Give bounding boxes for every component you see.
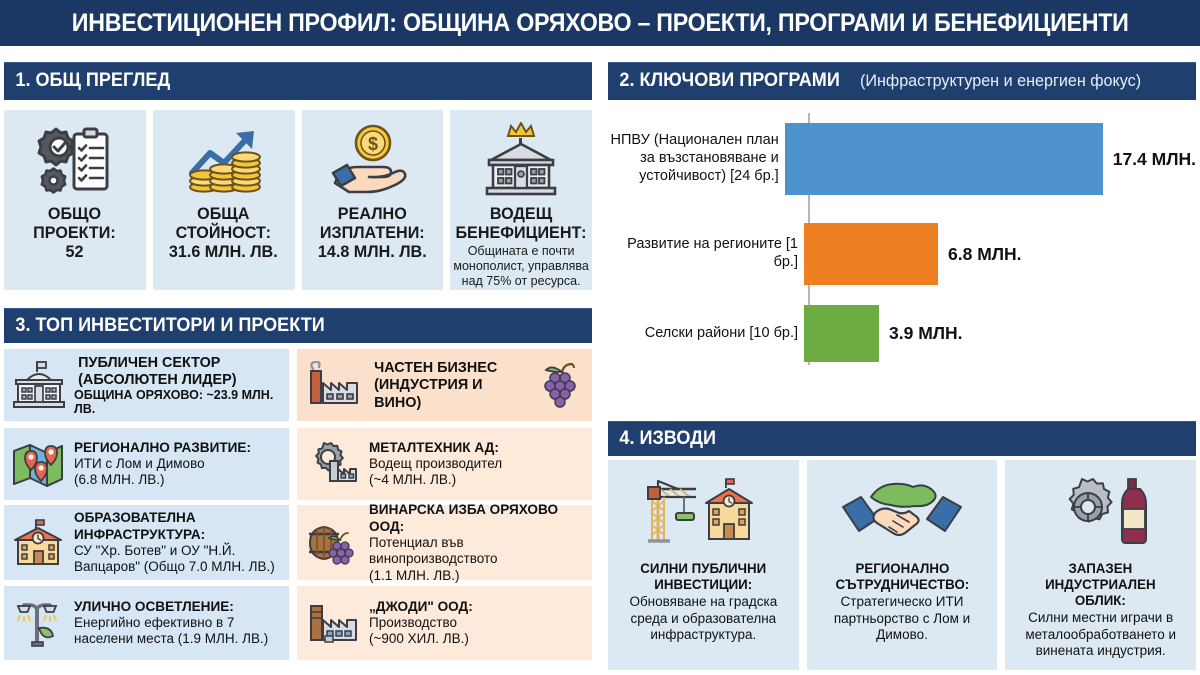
conclusion-cards: СИЛНИ ПУБЛИЧНИИНВЕСТИЦИИ: Обновяване на … [608,460,1196,670]
section-4-title: 4. ИЗВОДИ [608,428,716,450]
conclusion-card-regional-cooperation: РЕГИОНАЛНОСЪТРУДНИЧЕСТВО: Стратегическо … [807,460,998,670]
bar-rural [804,305,879,362]
conclusion-body-1: Обновяване на градска среда и образовате… [614,594,793,643]
hand-coin-icon: $ [329,120,415,198]
bar-npvu [785,123,1103,195]
key-programs-bar-chart: НПВУ (Национален планза възстановяване и… [608,105,1196,380]
factory-icon [304,598,360,648]
section-2-subtitle: (Инфраструктурен и енергиен фокус) [860,71,1141,91]
bar-regions [804,223,938,285]
section-4-header: 4. ИЗВОДИ [608,421,1196,456]
kpi-card-beneficiary: ВОДЕЩБЕНЕФИЦИЕНТ: Общината е почти моноп… [450,110,592,290]
kpi-label-beneficiary: ВОДЕЩБЕНЕФИЦИЕНТ: [456,204,587,242]
conclusion-body-2: Стратегическо ИТИ партньорство с Лом и Д… [813,594,992,643]
clipboard-gear-icon [37,120,113,198]
kpi-card-total-projects: ОБЩОПРОЕКТИ:52 [4,110,146,290]
public-row-regional-development: РЕГИОНАЛНО РАЗВИТИЕ: ИТИ с Лом и Димово(… [4,428,289,500]
kpi-note-beneficiary: Общината е почти монополист, управлява н… [450,244,592,288]
private-row-jodi: „ДЖОДИ" ООД: Производство(~900 ХИЛ. ЛВ.) [297,586,592,660]
barrel-grapes-icon [304,518,360,568]
bar-value-rural: 3.9 МЛН. [889,323,963,344]
conclusion-card-public-investment: СИЛНИ ПУБЛИЧНИИНВЕСТИЦИИ: Обновяване на … [608,460,799,670]
svg-text:$: $ [368,134,378,154]
kpi-label-paid: РЕАЛНОИЗПЛАТЕНИ:14.8 МЛН. ЛВ. [318,204,427,261]
school-icon [11,518,65,568]
private-business-title: ЧАСТЕН БИЗНЕС (ИНДУСТРИЯ И ВИНО) [374,359,523,410]
public-row-street-lighting: УЛИЧНО ОСВЕТЛЕНИЕ: Енергийно ефективно в… [4,586,289,660]
section-3-title: 3. ТОП ИНВЕСТИТОРИ И ПРОЕКТИ [4,315,325,337]
conclusion-title-3: ЗАПАЗЕН ИНДУСТРИАЛЕНОБЛИК: [1016,560,1186,608]
conclusion-title-2: РЕГИОНАЛНОСЪТРУДНИЧЕСТВО: [835,560,969,592]
gear-bottle-icon [1036,472,1166,552]
conclusion-title-1: СИЛНИ ПУБЛИЧНИИНВЕСТИЦИИ: [640,560,766,592]
bar-row-rural: Селски райони [10 бр.] 3.9 МЛН. [608,305,1196,362]
kpi-label-total-projects: ОБЩОПРОЕКТИ:52 [34,204,117,261]
section-2-title: 2. КЛЮЧОВИ ПРОГРАМИ [608,70,840,92]
public-row-2-text: ОБРАЗОВАТЕЛНАИНФРАСТРУКТУРА: СУ "Хр. Бот… [74,509,275,576]
public-sector-title: ПУБЛИЧЕН СЕКТОР (АБСОЛЮТЕН ЛИДЕР) [78,354,277,388]
private-row-3-text: „ДЖОДИ" ООД: Производство(~900 ХИЛ. ЛВ.) [369,598,476,648]
infographic-page: ИНВЕСТИЦИОНЕН ПРОФИЛ: ОБЩИНА ОРЯХОВО – П… [0,0,1200,675]
government-crown-icon [477,120,565,198]
coins-growth-icon [184,120,264,198]
section-2-header: 2. КЛЮЧОВИ ПРОГРАМИ (Инфраструктурен и е… [608,62,1196,100]
bar-label-rural: Селски райони [10 бр.] [608,325,804,343]
private-row-2-text: ВИНАРСКА ИЗБА ОРЯХОВО ООД: Потенциал във… [369,501,585,584]
bar-row-regions: Развитие на регионите [1 бр.] 6.8 МЛН. [608,223,1196,285]
crane-school-icon [628,472,778,552]
bar-label-regions: Развитие на регионите [1 бр.] [608,236,804,271]
overview-cards: ОБЩОПРОЕКТИ:52 [4,110,592,290]
public-row-1-text: РЕГИОНАЛНО РАЗВИТИЕ: ИТИ с Лом и Димово(… [74,439,256,489]
private-row-metaltehnik: МЕТАЛТЕХНИК АД: Водещ производител(~4 МЛ… [297,428,592,500]
private-row-winery: ВИНАРСКА ИЗБА ОРЯХОВО ООД: Потенциал във… [297,505,592,580]
private-business-header: ЧАСТЕН БИЗНЕС (ИНДУСТРИЯ И ВИНО) [297,349,592,421]
factory-icon [305,361,363,409]
bar-row-npvu: НПВУ (Национален планза възстановяване и… [608,123,1196,195]
grapes-icon [534,360,584,410]
public-sector-header: ПУБЛИЧЕН СЕКТОР (АБСОЛЮТЕН ЛИДЕР) ОБЩИНА… [4,349,289,421]
kpi-card-paid: $ РЕАЛНОИЗПЛАТЕНИ:14.8 МЛН. ЛВ. [302,110,444,290]
map-pins-icon [11,439,65,489]
bar-value-npvu: 17.4 МЛН. [1113,149,1196,170]
street-lamp-icon [11,598,65,648]
kpi-card-total-value: ОБЩАСТОЙНОСТ:31.6 МЛН. ЛВ. [153,110,295,290]
kpi-label-total-value: ОБЩАСТОЙНОСТ:31.6 МЛН. ЛВ. [169,204,278,261]
conclusion-card-industrial: ЗАПАЗЕН ИНДУСТРИАЛЕНОБЛИК: Силни местни … [1005,460,1196,670]
gear-factory-icon [304,439,360,489]
section-1-header: 1. ОБЩ ПРЕГЛЕД [4,62,592,100]
section-3-header: 3. ТОП ИНВЕСТИТОРИ И ПРОЕКТИ [4,308,592,343]
bar-label-npvu: НПВУ (Национален планза възстановяване и… [608,132,785,185]
main-title-bar: ИНВЕСТИЦИОНЕН ПРОФИЛ: ОБЩИНА ОРЯХОВО – П… [0,0,1200,46]
public-sector-subtitle: ОБЩИНА ОРЯХОВО: ~23.9 МЛН. ЛВ. [74,388,281,416]
government-building-icon [12,360,66,410]
section-1-title: 1. ОБЩ ПРЕГЛЕД [4,70,170,92]
public-row-3-text: УЛИЧНО ОСВЕТЛЕНИЕ: Енергийно ефективно в… [74,598,268,648]
page-title: ИНВЕСТИЦИОНЕН ПРОФИЛ: ОБЩИНА ОРЯХОВО – П… [72,9,1129,38]
handshake-map-icon [837,472,967,552]
bar-value-regions: 6.8 МЛН. [948,244,1022,265]
conclusion-body-3: Силни местни играчи в металообработванет… [1011,610,1190,659]
private-row-1-text: МЕТАЛТЕХНИК АД: Водещ производител(~4 МЛ… [369,439,503,489]
public-row-education: ОБРАЗОВАТЕЛНАИНФРАСТРУКТУРА: СУ "Хр. Бот… [4,505,289,580]
